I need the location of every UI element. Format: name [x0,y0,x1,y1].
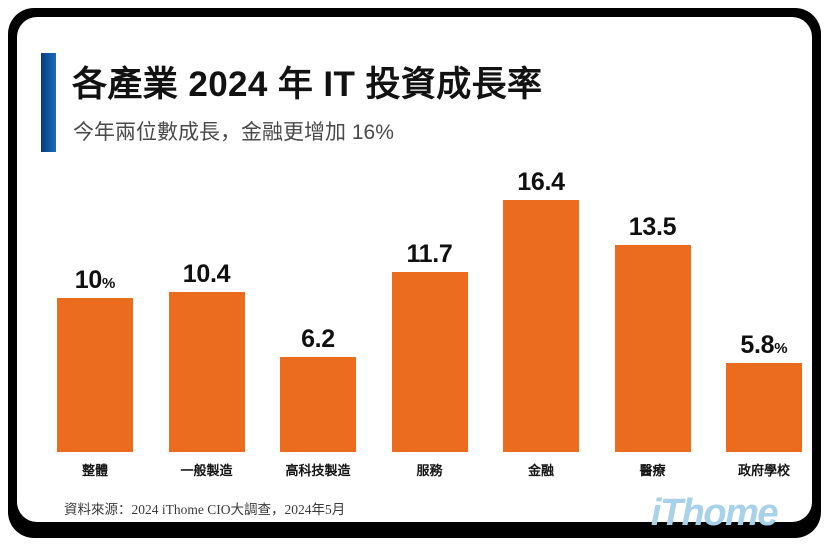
bar-column: 5.8% [726,167,802,452]
page-title: 各產業 2024 年 IT 投資成長率 [72,56,542,107]
chart-plot-area: 10%10.46.211.716.413.55.8% [57,167,802,452]
category-label: 服務 [392,460,468,479]
bar-value-label: 6.2 [301,327,335,352]
bar-column: 11.7 [392,167,468,452]
bar-value-label: 11.7 [406,242,452,267]
category-label: 金融 [503,460,579,479]
bar-rect [615,245,691,452]
bar-rect [57,298,133,452]
bar-rect [169,292,245,452]
bar-column: 13.5 [615,167,691,452]
bar-column: 10.4 [169,167,245,452]
bar-rect [392,272,468,452]
bar-value-label: 13.5 [629,215,676,240]
bar-column: 6.2 [280,167,356,452]
category-label: 政府學校 [726,460,802,479]
category-label: 一般製造 [169,460,245,479]
page-subtitle: 今年兩位數成長，金融更增加 16% [73,116,394,146]
bar-value-label: 10% [75,268,116,293]
percent-suffix: % [102,275,115,292]
bar-value-label: 10.4 [183,262,230,287]
bar-rect [503,200,579,452]
percent-suffix: % [774,340,787,357]
chart-card: 各產業 2024 年 IT 投資成長率 今年兩位數成長，金融更增加 16% 10… [17,17,812,522]
bar-value-label: 5.8% [740,333,787,358]
category-label: 醫療 [615,460,691,479]
chart-page: 各產業 2024 年 IT 投資成長率 今年兩位數成長，金融更增加 16% 10… [0,0,829,546]
source-note: 資料來源：2024 iThome CIO大調查，2024年5月 [64,498,345,518]
bar-rect [280,357,356,452]
bar-column: 10% [57,167,133,452]
ithome-logo: iThome [651,494,777,532]
bar-rect [726,363,802,452]
category-axis-labels: 整體一般製造高科技製造服務金融醫療政府學校 [57,460,802,479]
category-label: 整體 [57,460,133,479]
blue-accent-bar [41,53,56,152]
category-label: 高科技製造 [280,460,356,479]
bar-column: 16.4 [503,167,579,452]
bar-series: 10%10.46.211.716.413.55.8% [57,167,802,452]
bar-value-label: 16.4 [517,170,564,195]
